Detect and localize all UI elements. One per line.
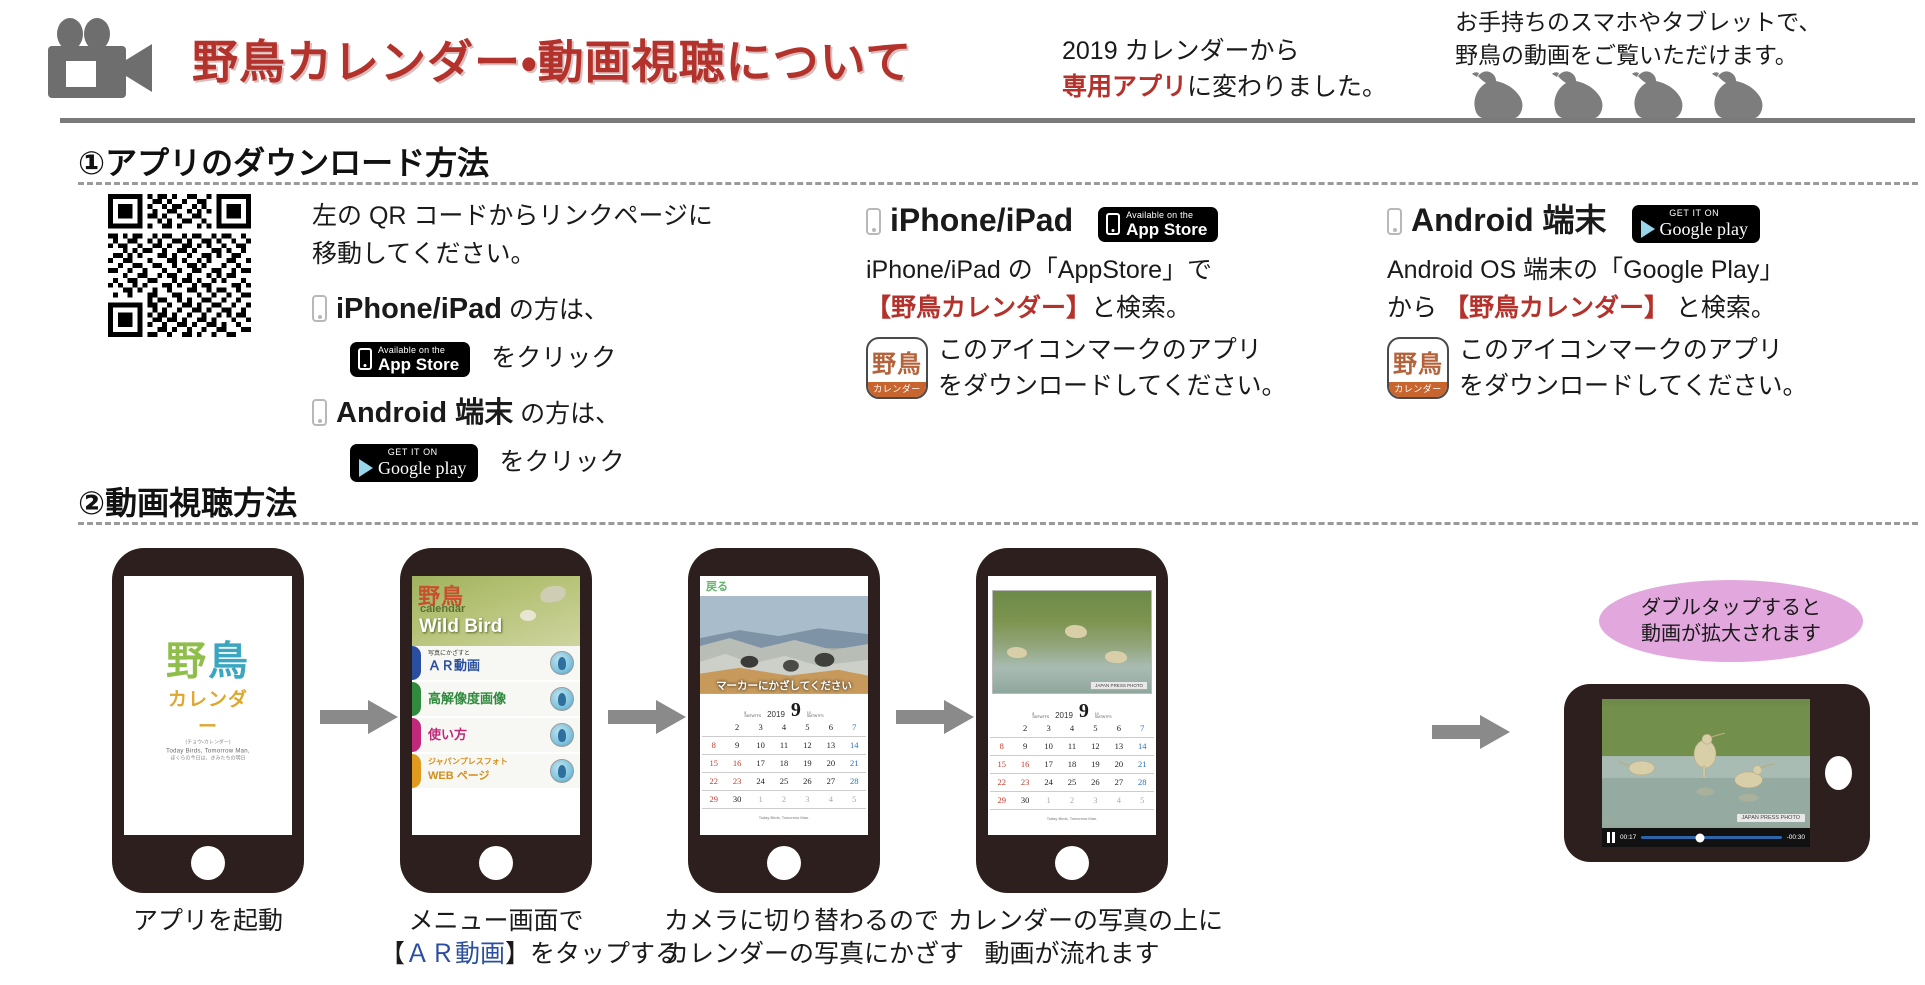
qr-ios-row: iPhone/iPad の方は、 bbox=[312, 288, 609, 332]
android-body-line2: から 【野鳥カレンダー】 と検索。 bbox=[1387, 290, 1784, 328]
calendar-day: 26 bbox=[796, 773, 819, 791]
android-note-line2: をダウンロードしてください。 bbox=[1459, 368, 1808, 404]
calendar-day: 2 bbox=[725, 719, 748, 737]
calendar-day: 23 bbox=[1013, 774, 1036, 792]
phone-1-screen: 野鳥 カレンダー (チョウ・カレンダー) Today Birds, Tomorr… bbox=[124, 576, 292, 835]
calendar-day: 4 bbox=[1107, 792, 1130, 810]
video-controls-bar[interactable]: 00:17 -00:30 bbox=[1602, 828, 1810, 847]
menu-hero-sub: calendar bbox=[420, 603, 465, 615]
qr-column-text: 左の QR コードからリンクページに 移動してください。 bbox=[312, 198, 713, 273]
calendar-preview: 8SMTWTFS 2019 9 10SMTWTFS 2 3 4 5 6 7 8 … bbox=[700, 694, 868, 823]
ios-column-heading: iPhone/iPad bbox=[890, 202, 1073, 238]
calendar-day: 27 bbox=[819, 773, 842, 791]
calendar-day: 7 bbox=[843, 719, 866, 737]
ios-body-line1: iPhone/iPad の「AppStore」で bbox=[866, 252, 1212, 290]
calendar-day: 18 bbox=[1060, 756, 1083, 774]
calendar-day: 24 bbox=[749, 773, 772, 791]
home-button[interactable] bbox=[191, 846, 225, 880]
app-store-badge-bottom: App Store bbox=[378, 356, 459, 373]
step-2-caption-line1: メニュー画面で bbox=[380, 905, 612, 938]
bird-circle-icon bbox=[550, 651, 574, 675]
calendar-day: 8 bbox=[990, 738, 1013, 756]
step-1-caption-line1: アプリを起動 bbox=[112, 905, 304, 938]
google-play-badge-bottom: Google play bbox=[378, 459, 466, 477]
video-elapsed-time: 00:17 bbox=[1620, 834, 1636, 841]
calendar-day: 5 bbox=[843, 791, 866, 809]
calendar-day: 6 bbox=[819, 719, 842, 737]
google-play-badge[interactable]: GET IT ON Google play bbox=[1632, 205, 1760, 243]
bird-circle-icon bbox=[550, 759, 574, 783]
step-2-post: 】をタップする bbox=[505, 940, 680, 968]
apple-phone-icon bbox=[1106, 213, 1120, 235]
calendar-day: 21 bbox=[843, 755, 866, 773]
calendar-day: 12 bbox=[1084, 738, 1107, 756]
step-2-caption-line2: 【ＡＲ動画】をタップする bbox=[380, 938, 612, 971]
app-icon-kanji: 野鳥 bbox=[868, 344, 926, 379]
app-splash-logo: 野鳥 カレンダー (チョウ・カレンダー) Today Birds, Tomorr… bbox=[166, 629, 250, 762]
google-play-badge-top: GET IT ON bbox=[1641, 209, 1748, 218]
hero-bird-icon bbox=[520, 610, 536, 621]
calendar-day: 12 bbox=[796, 737, 819, 755]
calendar-footer: Today Birds, Tomorrow Man. bbox=[702, 809, 866, 823]
phone-2-screen: 野鳥 calendar Wild Bird 写真にかざすと ＡＲ動画 高解像度画… bbox=[412, 576, 580, 835]
splash-kanji: 野鳥 bbox=[166, 629, 250, 687]
menu-item-2-label: 使い方 bbox=[428, 727, 467, 742]
bird-circle-icon bbox=[550, 723, 574, 747]
ios-body-rest: と検索。 bbox=[1091, 294, 1191, 322]
qr-ios-click-text: をクリック bbox=[491, 344, 616, 372]
calendar-day: 9 bbox=[725, 737, 748, 755]
calendar-grid: 2 3 4 5 6 7 8 9 10 11 12 13 14 15 16 17 bbox=[702, 719, 866, 809]
video-frame[interactable]: JAPAN PRESS PHOTO bbox=[1602, 699, 1810, 828]
calendar-mini-next: 10SMTWTFS bbox=[1095, 713, 1112, 720]
header-subtitle-line2: 専用アプリに変わりました。 bbox=[1062, 70, 1387, 106]
calendar-day: 19 bbox=[1084, 756, 1107, 774]
android-body-accent: 【野鳥カレンダー】 bbox=[1444, 294, 1669, 322]
splash-kanji1: 野 bbox=[166, 639, 208, 684]
calendar-day: 22 bbox=[702, 773, 725, 791]
godwit-video-still bbox=[1602, 699, 1810, 828]
app-icon-band: カレンダー bbox=[868, 382, 926, 397]
callout-line2: 動画が拡大されます bbox=[1641, 621, 1821, 647]
calendar-day: 2 bbox=[1060, 792, 1083, 810]
home-button[interactable] bbox=[1055, 846, 1089, 880]
app-store-badge[interactable]: Available on the App Store bbox=[1098, 207, 1218, 242]
home-button[interactable] bbox=[767, 846, 801, 880]
qr-android-badge-row: GET IT ON Google play をクリック bbox=[350, 444, 624, 482]
ios-note-line2: をダウンロードしてください。 bbox=[938, 368, 1287, 404]
splash-romaji: (チョウ・カレンダー) bbox=[166, 739, 250, 746]
ar-video-overlay[interactable]: JAPAN PRESS PHOTO bbox=[992, 590, 1152, 694]
qr-ios-suffix: の方は、 bbox=[502, 296, 609, 324]
splash-kanji2: 鳥 bbox=[208, 639, 250, 684]
phone-glyph-icon bbox=[312, 399, 327, 426]
header-subtitle-line1: 2019 カレンダーから bbox=[1062, 34, 1387, 70]
menu-item-high-res-image[interactable]: 高解像度画像 bbox=[412, 682, 580, 716]
step-2-pre: 【 bbox=[380, 940, 405, 968]
menu-item-how-to-use[interactable]: 使い方 bbox=[412, 718, 580, 752]
video-bird-icon bbox=[1007, 647, 1027, 658]
qr-ios-label: iPhone/iPad bbox=[336, 293, 502, 325]
section1-divider bbox=[78, 182, 1918, 185]
header-note-line1: お手持ちのスマホやタブレットで、 bbox=[1455, 6, 1821, 39]
android-app-icon-note: このアイコンマークのアプリ をダウンロードしてください。 bbox=[1459, 332, 1808, 405]
phone-step-2: 野鳥 calendar Wild Bird 写真にかざすと ＡＲ動画 高解像度画… bbox=[400, 548, 592, 893]
menu-tab-icon bbox=[412, 646, 421, 680]
calendar-day: 4 bbox=[819, 791, 842, 809]
section1-title: ①アプリのダウンロード方法 bbox=[78, 138, 489, 184]
arrow-icon bbox=[320, 700, 398, 734]
calendar-mini-prev: 8SMTWTFS bbox=[744, 712, 761, 719]
calendar-header: 8SMTWTFS 2019 9 10SMTWTFS bbox=[990, 698, 1154, 720]
app-store-badge-top: Available on the bbox=[1126, 211, 1207, 220]
calendar-day: 3 bbox=[1084, 792, 1107, 810]
qr-ios-badge-row: Available on the App Store をクリック bbox=[350, 340, 616, 378]
calendar-day: 15 bbox=[990, 756, 1013, 774]
calendar-day: 15 bbox=[702, 755, 725, 773]
home-button[interactable] bbox=[479, 846, 513, 880]
calendar-day: 6 bbox=[1107, 720, 1130, 738]
android-column-heading-row: Android 端末 GET IT ON Google play bbox=[1387, 196, 1760, 244]
qr-android-click-text: をクリック bbox=[499, 448, 624, 476]
calendar-day bbox=[702, 719, 725, 737]
calendar-day: 29 bbox=[702, 791, 725, 809]
step-1-caption: アプリを起動 bbox=[112, 905, 304, 938]
step-4-caption-line2: 動画が流れます bbox=[948, 938, 1196, 971]
phone-glyph-icon bbox=[312, 295, 327, 322]
splash-katakana: カレンダー bbox=[166, 685, 250, 739]
calendar-day: 22 bbox=[990, 774, 1013, 792]
calendar-day: 16 bbox=[1013, 756, 1036, 774]
camera-viewfinder: マーカーにかざしてください bbox=[700, 596, 868, 694]
menu-item-0-label: ＡＲ動画 bbox=[428, 658, 480, 673]
page-title: 野鳥カレンダー・動画視聴について bbox=[192, 26, 912, 92]
android-app-icon-row: 野鳥 カレンダー このアイコンマークのアプリ をダウンロードしてください。 bbox=[1387, 332, 1808, 405]
calendar-day: 30 bbox=[1013, 792, 1036, 810]
calendar-day: 23 bbox=[725, 773, 748, 791]
qr-android-label: Android 端末 bbox=[336, 397, 513, 429]
google-play-badge-bottom: Google play bbox=[1660, 220, 1748, 238]
marker-hint: マーカーにかざしてください bbox=[700, 678, 868, 693]
calendar-header: 8SMTWTFS 2019 9 10SMTWTFS bbox=[702, 697, 866, 719]
calendar-day: 3 bbox=[749, 719, 772, 737]
step-3-caption: カメラに切り替わるので カレンダーの写真にかざす bbox=[664, 905, 904, 971]
calendar-day: 5 bbox=[1084, 720, 1107, 738]
calendar-day: 2 bbox=[772, 791, 795, 809]
video-bird-icon bbox=[1105, 651, 1127, 663]
android-note-line1: このアイコンマークのアプリ bbox=[1459, 332, 1808, 368]
arrow-icon bbox=[896, 700, 974, 734]
page-header: 野鳥カレンダー・動画視聴について 2019 カレンダーから 専用アプリに変わりま… bbox=[0, 0, 1925, 125]
qr-android-row: Android 端末 の方は、 bbox=[312, 392, 620, 436]
menu-hero-banner: 野鳥 calendar Wild Bird bbox=[412, 576, 580, 646]
step-2-ar: ＡＲ動画 bbox=[405, 940, 505, 968]
calendar-day: 24 bbox=[1037, 774, 1060, 792]
calendar-day: 25 bbox=[1060, 774, 1083, 792]
calendar-day: 30 bbox=[725, 791, 748, 809]
video-watermark: JAPAN PRESS PHOTO bbox=[1090, 681, 1148, 690]
video-camera-icon bbox=[40, 18, 165, 98]
calendar-day: 20 bbox=[1107, 756, 1130, 774]
phone-4-screen: 8SMTWTFS 2019 9 10SMTWTFS 2 3 4 5 6 7 8 … bbox=[988, 576, 1156, 835]
google-play-badge-top: GET IT ON bbox=[359, 448, 466, 457]
qr-instruction-line2: 移動してください。 bbox=[312, 236, 713, 274]
calendar-grid: 2 3 4 5 6 7 8 9 10 11 12 13 14 15 16 17 bbox=[990, 720, 1154, 810]
calendar-day: 9 bbox=[1013, 738, 1036, 756]
menu-tab-icon bbox=[412, 754, 421, 788]
back-button[interactable]: 戻る bbox=[700, 576, 868, 596]
calendar-day: 20 bbox=[819, 755, 842, 773]
hero-bird-icon bbox=[539, 583, 568, 604]
step-3-caption-line2: カレンダーの写真にかざす bbox=[664, 938, 904, 971]
menu-item-3-label: WEB ページ bbox=[428, 770, 490, 782]
qr-code[interactable] bbox=[108, 194, 251, 337]
calendar-day: 5 bbox=[796, 719, 819, 737]
ios-app-icon-row: 野鳥 カレンダー このアイコンマークのアプリ をダウンロードしてください。 bbox=[866, 332, 1287, 405]
phone-3-screen: 戻る マーカーにかざしてください 8SMTWTFS 2019 bbox=[700, 576, 868, 835]
calendar-day: 28 bbox=[1131, 774, 1154, 792]
calendar-day: 13 bbox=[819, 737, 842, 755]
calendar-day: 4 bbox=[772, 719, 795, 737]
calendar-day: 4 bbox=[1060, 720, 1083, 738]
app-store-badge-bottom: App Store bbox=[1126, 221, 1207, 238]
home-button[interactable] bbox=[1825, 756, 1852, 790]
video-remaining-time: -00:30 bbox=[1787, 834, 1805, 841]
calendar-day: 3 bbox=[1037, 720, 1060, 738]
calendar-day: 26 bbox=[1084, 774, 1107, 792]
calendar-month: 9 bbox=[1079, 703, 1089, 720]
app-icon-kanji: 野鳥 bbox=[1389, 344, 1447, 379]
calendar-day: 2 bbox=[1013, 720, 1036, 738]
ios-note-line1: このアイコンマークのアプリ bbox=[938, 332, 1287, 368]
ios-column-heading-row: iPhone/iPad Available on the App Store bbox=[866, 196, 1218, 244]
google-play-triangle-icon bbox=[359, 459, 373, 477]
ios-column-body: iPhone/iPad の「AppStore」で 【野鳥カレンダー】と検索。 bbox=[866, 252, 1212, 327]
landscape-screen: JAPAN PRESS PHOTO 00:17 -00:30 bbox=[1602, 699, 1810, 847]
calendar-year: 2019 bbox=[767, 710, 785, 719]
header-divider bbox=[60, 118, 1915, 123]
video-progress-slider[interactable] bbox=[1641, 836, 1781, 839]
calendar-day: 13 bbox=[1107, 738, 1130, 756]
calendar-day: 1 bbox=[1037, 792, 1060, 810]
menu-item-ar-video[interactable]: 写真にかざすと ＡＲ動画 bbox=[412, 646, 580, 680]
calendar-day: 21 bbox=[1131, 756, 1154, 774]
splash-tagline2: ぼくらの今日は、きみたちの明日 bbox=[166, 755, 250, 762]
phone-step-3: 戻る マーカーにかざしてください 8SMTWTFS 2019 bbox=[688, 548, 880, 893]
qr-instruction-line1: 左の QR コードからリンクページに bbox=[312, 198, 713, 236]
calendar-day: 14 bbox=[843, 737, 866, 755]
calendar-mini-next: 10SMTWTFS bbox=[807, 712, 824, 719]
calendar-day: 18 bbox=[772, 755, 795, 773]
calendar-day: 25 bbox=[772, 773, 795, 791]
calendar-day: 10 bbox=[749, 737, 772, 755]
ios-app-icon-note: このアイコンマークのアプリ をダウンロードしてください。 bbox=[938, 332, 1287, 405]
callout-line1: ダブルタップすると bbox=[1641, 595, 1821, 621]
video-bird-icon bbox=[1065, 625, 1087, 638]
calendar-day: 14 bbox=[1131, 738, 1154, 756]
calendar-day: 1 bbox=[749, 791, 772, 809]
arrow-icon bbox=[1432, 715, 1510, 749]
android-body-pre: から bbox=[1387, 294, 1444, 322]
calendar-day: 10 bbox=[1037, 738, 1060, 756]
phone-step-1: 野鳥 カレンダー (チョウ・カレンダー) Today Birds, Tomorr… bbox=[112, 548, 304, 893]
ios-body-accent: 【野鳥カレンダー】 bbox=[866, 294, 1091, 322]
app-store-badge[interactable]: Available on the App Store bbox=[350, 342, 470, 377]
arrow-icon bbox=[608, 700, 686, 734]
video-progress-knob[interactable] bbox=[1696, 833, 1705, 842]
calendar-day: 27 bbox=[1107, 774, 1130, 792]
app-icon-band: カレンダー bbox=[1389, 382, 1447, 397]
apple-phone-icon bbox=[358, 348, 372, 370]
bird-circle-icon bbox=[550, 687, 574, 711]
step-2-caption: メニュー画面で 【ＡＲ動画】をタップする bbox=[380, 905, 612, 971]
pause-icon[interactable] bbox=[1607, 832, 1615, 843]
calendar-day: 17 bbox=[749, 755, 772, 773]
calendar-month: 9 bbox=[791, 702, 801, 719]
bird-silhouettes-icon bbox=[1460, 62, 1790, 120]
calendar-day: 28 bbox=[843, 773, 866, 791]
step-3-caption-line1: カメラに切り替わるので bbox=[664, 905, 904, 938]
calendar-day: 19 bbox=[796, 755, 819, 773]
video-watermark: JAPAN PRESS PHOTO bbox=[1737, 814, 1805, 822]
phone-step-4: 8SMTWTFS 2019 9 10SMTWTFS 2 3 4 5 6 7 8 … bbox=[976, 548, 1168, 893]
menu-item-1-label: 高解像度画像 bbox=[428, 691, 506, 706]
android-column-body: Android OS 端末の「Google Play」 から 【野鳥カレンダー】… bbox=[1387, 252, 1784, 327]
phone-landscape-video: JAPAN PRESS PHOTO 00:17 -00:30 bbox=[1564, 684, 1870, 862]
calendar-footer: Today Birds, Tomorrow Man. bbox=[990, 810, 1154, 824]
android-body-line1: Android OS 端末の「Google Play」 bbox=[1387, 252, 1784, 290]
phone-glyph-icon bbox=[1387, 208, 1402, 235]
header-subtitle-rest: に変わりました。 bbox=[1187, 73, 1387, 101]
section2-divider bbox=[78, 522, 1918, 525]
calendar-day: 29 bbox=[990, 792, 1013, 810]
calendar-day: 8 bbox=[702, 737, 725, 755]
android-body-rest: と検索。 bbox=[1669, 294, 1776, 322]
step-4-caption-line1: カレンダーの写真の上に bbox=[948, 905, 1196, 938]
header-subtitle-accent: 専用アプリ bbox=[1062, 73, 1187, 101]
android-column-heading: Android 端末 bbox=[1411, 202, 1607, 238]
google-play-triangle-icon bbox=[1641, 220, 1655, 238]
calendar-day: 5 bbox=[1131, 792, 1154, 810]
calendar-mini-prev: 8SMTWTFS bbox=[1032, 713, 1049, 720]
calendar-day: 3 bbox=[796, 791, 819, 809]
menu-item-3-small: ジャパンプレスフォト bbox=[428, 758, 550, 766]
calendar-day: 16 bbox=[725, 755, 748, 773]
section2-title: ②動画視聴方法 bbox=[78, 478, 297, 524]
calendar-day: 7 bbox=[1131, 720, 1154, 738]
app-icon: 野鳥 カレンダー bbox=[866, 337, 928, 399]
calendar-day: 11 bbox=[1060, 738, 1083, 756]
menu-hero-en: Wild Bird bbox=[419, 616, 502, 638]
double-tap-callout: ダブルタップすると 動画が拡大されます bbox=[1599, 580, 1863, 662]
poster-root: 野鳥カレンダー・動画視聴について 2019 カレンダーから 専用アプリに変わりま… bbox=[0, 0, 1925, 985]
calendar-day: 17 bbox=[1037, 756, 1060, 774]
qr-android-suffix: の方は、 bbox=[513, 400, 620, 428]
app-icon: 野鳥 カレンダー bbox=[1387, 337, 1449, 399]
menu-tab-icon bbox=[412, 682, 421, 716]
header-subtitle: 2019 カレンダーから 専用アプリに変わりました。 bbox=[1062, 34, 1387, 105]
menu-tab-icon bbox=[412, 718, 421, 752]
calendar-year: 2019 bbox=[1055, 711, 1073, 720]
google-play-badge[interactable]: GET IT ON Google play bbox=[350, 444, 478, 482]
menu-item-web-page[interactable]: ジャパンプレスフォト WEB ページ bbox=[412, 754, 580, 788]
app-store-badge-top: Available on the bbox=[378, 346, 459, 355]
calendar-day: 11 bbox=[772, 737, 795, 755]
phone-glyph-icon bbox=[866, 208, 881, 235]
ios-body-line2: 【野鳥カレンダー】と検索。 bbox=[866, 290, 1212, 328]
step-4-caption: カレンダーの写真の上に 動画が流れます bbox=[948, 905, 1196, 971]
calendar-day bbox=[990, 720, 1013, 738]
